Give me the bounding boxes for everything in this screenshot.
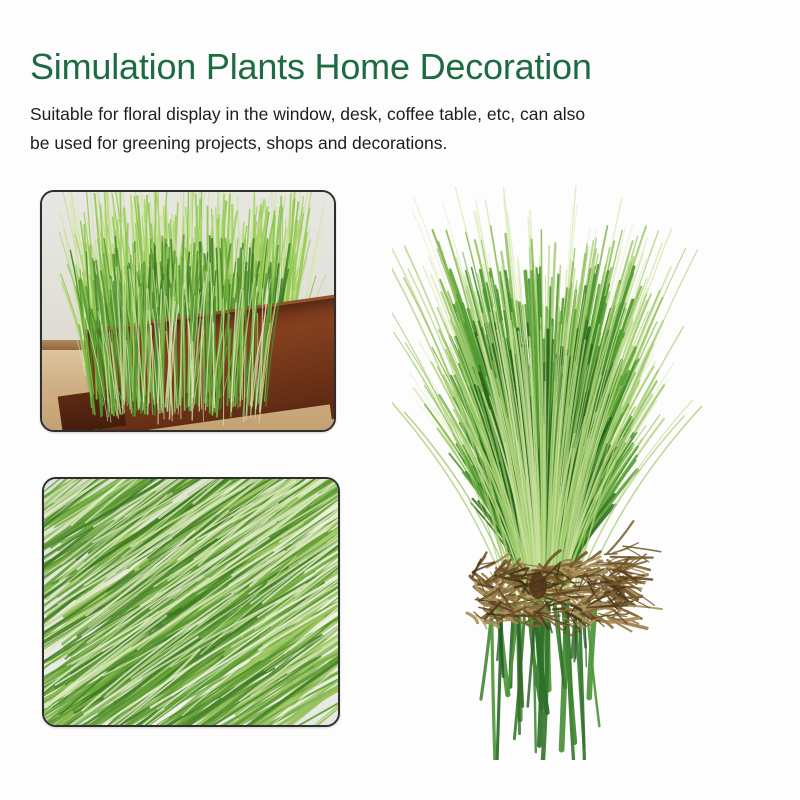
page-subtitle: Suitable for floral display in the windo… [30,100,720,158]
photo-closeup-image [44,479,338,725]
photo-planter-box [40,190,336,432]
product-grass-svg [392,180,702,760]
photo-grass-closeup [42,477,340,727]
banner-canvas: Simulation Plants Home Decoration Suitab… [0,0,800,800]
closeup-blades-svg [44,479,338,725]
photo-planter-image [42,192,334,430]
page-title: Simulation Plants Home Decoration [30,46,750,88]
subtitle-line-2: be used for greening projects, shops and… [30,129,720,158]
subtitle-line-1: Suitable for floral display in the windo… [30,100,720,129]
product-image-grass-bundle [392,180,702,760]
planter-front-grass-svg [42,192,334,430]
